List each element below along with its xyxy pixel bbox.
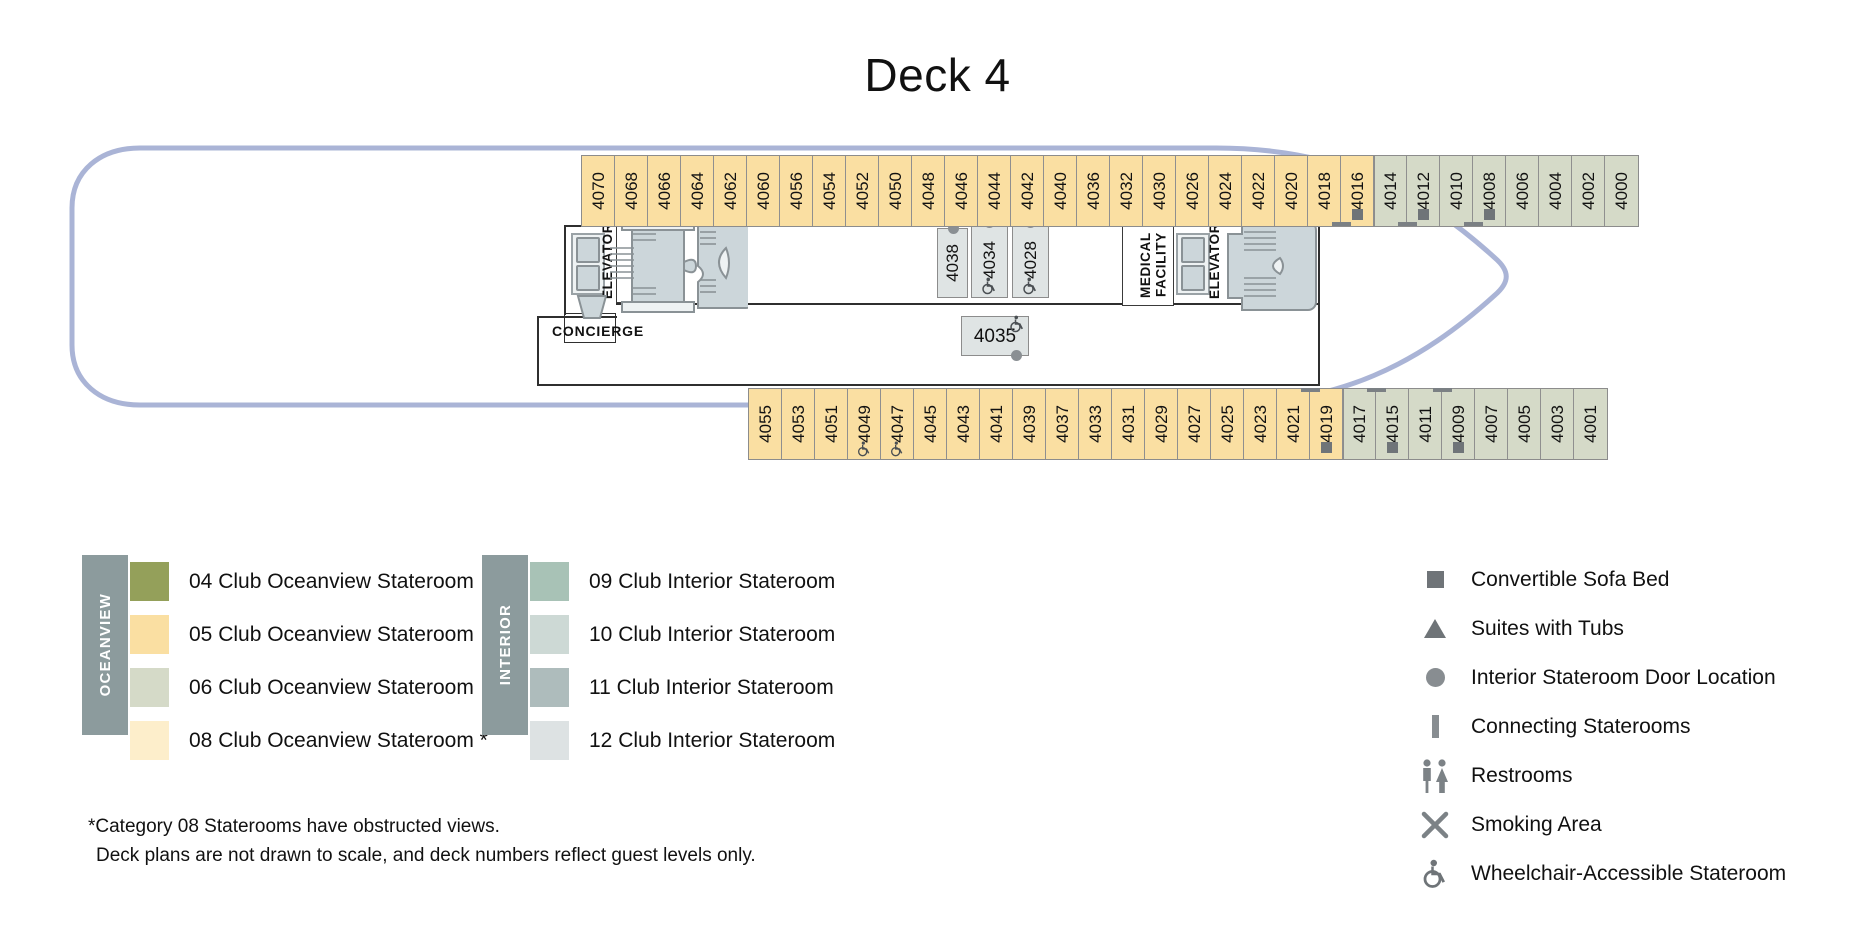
symbol-legend: Convertible Sofa BedSuites with TubsInte… (1415, 555, 1786, 898)
wall-line-concierge-left (537, 318, 539, 386)
legend-item-wheelchair-accessible-stateroom-icon: Wheelchair-Accessible Stateroom (1415, 849, 1786, 898)
cabin-4053[interactable]: 4053 (782, 389, 815, 459)
cabin-4029[interactable]: 4029 (1145, 389, 1178, 459)
cabin-4066[interactable]: 4066 (648, 156, 681, 226)
interior-stateroom-4028-number: 4028 (1022, 241, 1039, 279)
cabin-4042[interactable]: 4042 (1011, 156, 1044, 226)
cabin-4060-number: 4060 (755, 172, 772, 210)
cabin-4021-number: 4021 (1285, 405, 1302, 443)
cabin-4049-number: 4049 (856, 405, 873, 443)
cabin-4019-number: 4019 (1318, 405, 1335, 443)
interior-stateroom-4034[interactable]: 4034 (971, 222, 1008, 298)
legend-item-convertible-sofa-bed-icon: Convertible Sofa Bed (1415, 555, 1786, 604)
cabin-4007-number: 4007 (1483, 405, 1500, 443)
cabin-4000[interactable]: 4000 (1605, 156, 1638, 226)
suites-with-tubs-icon (1415, 609, 1455, 649)
cabin-4047[interactable]: 4047 (881, 389, 914, 459)
cabin-4027-number: 4027 (1186, 405, 1203, 443)
aft-stairwell-graphic (608, 218, 748, 314)
legend-label-09: 09 Club Interior Stateroom (589, 570, 835, 594)
aft-elevator-car-1 (576, 237, 600, 263)
cabin-4049[interactable]: 4049 (848, 389, 881, 459)
connecting-staterooms-icon-4009 (1433, 388, 1452, 392)
interior-category-bar: INTERIOR (482, 555, 528, 735)
legend-label-04: 04 Club Oceanview Stateroom (189, 570, 474, 594)
cabin-4015-number: 4015 (1384, 405, 1401, 443)
cabin-4041[interactable]: 4041 (980, 389, 1013, 459)
legend-item-interior-12: 12 Club Interior Stateroom (530, 714, 835, 767)
wheelchair-accessible-stateroom-icon-4035 (1008, 315, 1026, 333)
interior-stateroom-4038-number: 4038 (944, 244, 961, 282)
cabin-4022[interactable]: 4022 (1242, 156, 1275, 226)
cabin-4068-number: 4068 (623, 172, 640, 210)
cabin-4045[interactable]: 4045 (914, 389, 947, 459)
wall-line-mid-right (1318, 303, 1320, 386)
cabin-4008[interactable]: 4008 (1473, 156, 1506, 226)
cabin-4023[interactable]: 4023 (1244, 389, 1277, 459)
cabin-4039[interactable]: 4039 (1013, 389, 1046, 459)
cabin-4010[interactable]: 4010 (1440, 156, 1473, 226)
cabin-4052-number: 4052 (854, 172, 871, 210)
cabin-4001-number: 4001 (1582, 405, 1599, 443)
cabin-4027[interactable]: 4027 (1178, 389, 1211, 459)
cabin-4031[interactable]: 4031 (1112, 389, 1145, 459)
fwd-stairwell-graphic (1220, 218, 1330, 314)
cabin-4002[interactable]: 4002 (1572, 156, 1605, 226)
cabin-4011[interactable]: 4011 (1409, 389, 1442, 459)
cabin-4056[interactable]: 4056 (780, 156, 813, 226)
cabin-4043[interactable]: 4043 (947, 389, 980, 459)
fwd-elevator-car-1 (1181, 237, 1205, 263)
cabin-4005[interactable]: 4005 (1508, 389, 1541, 459)
cabin-4022-number: 4022 (1250, 172, 1267, 210)
wall-line-concierge-bottom (537, 384, 749, 386)
legend-label-smoking-area-icon: Smoking Area (1471, 813, 1602, 837)
cabin-4042-number: 4042 (1019, 172, 1036, 210)
legend-swatch-05 (130, 615, 169, 654)
page-title: Deck 4 (0, 48, 1875, 102)
restrooms-icon (1415, 756, 1455, 796)
connecting-staterooms-icon-4012 (1398, 222, 1417, 226)
cabin-4037-number: 4037 (1054, 405, 1071, 443)
legend-swatch-12 (530, 721, 569, 760)
cabin-4002-number: 4002 (1580, 172, 1597, 210)
cabin-4044-number: 4044 (986, 172, 1003, 210)
cabin-4070-number: 4070 (590, 172, 607, 210)
cabin-4012-number: 4012 (1415, 172, 1432, 210)
cabin-4017[interactable]: 4017 (1343, 389, 1376, 459)
legend-item-restrooms-icon: Restrooms (1415, 751, 1786, 800)
medical-facility-label: MEDICAL FACILITY (1138, 228, 1169, 302)
wheelchair-accessible-stateroom-icon-4047 (889, 441, 905, 457)
wheelchair-accessible-stateroom-icon-4049 (856, 441, 872, 457)
cabin-4016-number: 4016 (1349, 172, 1366, 210)
cabin-4007[interactable]: 4007 (1475, 389, 1508, 459)
door-location-dot-4035 (1011, 350, 1022, 361)
cabin-4010-number: 4010 (1448, 172, 1465, 210)
interior-stateroom-4038[interactable]: 4038 (937, 228, 968, 298)
cabin-4003[interactable]: 4003 (1541, 389, 1574, 459)
connecting-staterooms-icon-4019 (1301, 388, 1320, 392)
cabin-4008-number: 4008 (1481, 172, 1498, 210)
interior-stateroom-4028[interactable]: 4028 (1012, 222, 1049, 298)
legend-swatch-08 (130, 721, 169, 760)
cabin-4025-number: 4025 (1219, 405, 1236, 443)
cabin-4021[interactable]: 4021 (1277, 389, 1310, 459)
legend-label-convertible-sofa-bed-icon: Convertible Sofa Bed (1471, 568, 1669, 592)
legend-label-wheelchair-accessible-stateroom-icon: Wheelchair-Accessible Stateroom (1471, 862, 1786, 886)
legend-item-oceanview-05: 05 Club Oceanview Stateroom (130, 608, 488, 661)
legend-item-interior-11: 11 Club Interior Stateroom (530, 661, 835, 714)
cabin-4064[interactable]: 4064 (681, 156, 714, 226)
cabin-4023-number: 4023 (1252, 405, 1269, 443)
wheelchair-accessible-stateroom-icon-4028 (1021, 277, 1039, 295)
wall-line-fwd-vert (1318, 226, 1320, 304)
legend-label-connecting-staterooms-icon: Connecting Staterooms (1471, 715, 1690, 739)
legend-label-10: 10 Club Interior Stateroom (589, 623, 835, 647)
cabin-4030[interactable]: 4030 (1143, 156, 1176, 226)
cabin-4015[interactable]: 4015 (1376, 389, 1409, 459)
cabin-4020-number: 4020 (1283, 172, 1300, 210)
cabin-4014-number: 4014 (1382, 172, 1399, 210)
cabin-4003-number: 4003 (1549, 405, 1566, 443)
cabin-4033-number: 4033 (1087, 405, 1104, 443)
legend-item-oceanview-06: 06 Club Oceanview Stateroom (130, 661, 488, 714)
cabin-4030-number: 4030 (1151, 172, 1168, 210)
aft-elevator-car-2 (576, 265, 600, 291)
cabin-4051-number: 4051 (823, 405, 840, 443)
cabin-4039-number: 4039 (1021, 405, 1038, 443)
cabin-4006[interactable]: 4006 (1506, 156, 1539, 226)
wheelchair-accessible-stateroom-icon (1415, 854, 1455, 894)
cabin-4009[interactable]: 4009 (1442, 389, 1475, 459)
convertible-sofa-bed-icon-4008 (1484, 209, 1495, 220)
cabin-4032-number: 4032 (1118, 172, 1135, 210)
legend-label-05: 05 Club Oceanview Stateroom (189, 623, 474, 647)
wall-line-mid-lower (749, 384, 1320, 386)
legend-label-12: 12 Club Interior Stateroom (589, 729, 835, 753)
cabin-4024[interactable]: 4024 (1209, 156, 1242, 226)
cabin-4006-number: 4006 (1514, 172, 1531, 210)
cabin-4017-number: 4017 (1351, 405, 1368, 443)
legend-label-interior-stateroom-door-location-icon: Interior Stateroom Door Location (1471, 666, 1776, 690)
cabin-4043-number: 4043 (955, 405, 972, 443)
interior-legend-items: 09 Club Interior Stateroom10 Club Interi… (530, 555, 835, 767)
port-cabin-row: 4055405340514049404740454043404140394037… (748, 388, 1608, 460)
cabin-4014[interactable]: 4014 (1374, 156, 1407, 226)
convertible-sofa-bed-icon (1415, 560, 1455, 600)
wheelchair-accessible-stateroom-icon-4034 (980, 277, 998, 295)
cabin-4036-number: 4036 (1085, 172, 1102, 210)
cabin-4055-number: 4055 (757, 405, 774, 443)
cabin-4026[interactable]: 4026 (1176, 156, 1209, 226)
legend-swatch-11 (530, 668, 569, 707)
cabin-4019[interactable]: 4019 (1310, 389, 1343, 459)
cabin-4046[interactable]: 4046 (945, 156, 978, 226)
deck-plan-diagram: GUEST RELATIONS CONCIERGE ELEVATORS (0, 130, 1875, 460)
legend-item-interior-10: 10 Club Interior Stateroom (530, 608, 835, 661)
cabin-4026-number: 4026 (1184, 172, 1201, 210)
convertible-sofa-bed-icon-4012 (1418, 209, 1429, 220)
cabin-4050-number: 4050 (887, 172, 904, 210)
cabin-4012[interactable]: 4012 (1407, 156, 1440, 226)
cabin-4064-number: 4064 (689, 172, 706, 210)
cabin-4045-number: 4045 (922, 405, 939, 443)
legend-swatch-04 (130, 562, 169, 601)
convertible-sofa-bed-icon-4009 (1453, 442, 1464, 453)
smoking-area-icon (1415, 805, 1455, 845)
legend-swatch-09 (530, 562, 569, 601)
cabin-4004-number: 4004 (1547, 172, 1564, 210)
oceanview-category-bar: OCEANVIEW (82, 555, 128, 735)
legend-item-smoking-area-icon: Smoking Area (1415, 800, 1786, 849)
legend-item-interior-09: 09 Club Interior Stateroom (530, 555, 835, 608)
cabin-4056-number: 4056 (788, 172, 805, 210)
cabin-4050[interactable]: 4050 (879, 156, 912, 226)
cabin-4068[interactable]: 4068 (615, 156, 648, 226)
legend-label-06: 06 Club Oceanview Stateroom (189, 676, 474, 700)
cabin-4052[interactable]: 4052 (846, 156, 879, 226)
cabin-4011-number: 4011 (1417, 406, 1434, 443)
cabin-4004[interactable]: 4004 (1539, 156, 1572, 226)
convertible-sofa-bed-icon-4015 (1387, 442, 1398, 453)
cabin-4048[interactable]: 4048 (912, 156, 945, 226)
interior-stateroom-4034-number: 4034 (981, 241, 998, 279)
interior-category-bar-label: INTERIOR (497, 604, 514, 685)
wall-line-aft-vert (564, 225, 566, 315)
cabin-4029-number: 4029 (1153, 405, 1170, 443)
fwd-elevator-car-2 (1181, 265, 1205, 291)
legend-label-11: 11 Club Interior Stateroom (589, 676, 834, 700)
legend-item-interior-stateroom-door-location-icon: Interior Stateroom Door Location (1415, 653, 1786, 702)
cabin-4005-number: 4005 (1516, 405, 1533, 443)
cabin-4051[interactable]: 4051 (815, 389, 848, 459)
legend-item-suites-with-tubs-icon: Suites with Tubs (1415, 604, 1786, 653)
cabin-4001[interactable]: 4001 (1574, 389, 1607, 459)
cabin-4016[interactable]: 4016 (1341, 156, 1374, 226)
connecting-staterooms-icon-4015 (1367, 388, 1386, 392)
cabin-4048-number: 4048 (920, 172, 937, 210)
legend-item-connecting-staterooms-icon: Connecting Staterooms (1415, 702, 1786, 751)
convertible-sofa-bed-icon-4016 (1352, 209, 1363, 220)
cabin-4044[interactable]: 4044 (978, 156, 1011, 226)
interior-stateroom-door-location-icon (1415, 658, 1455, 698)
legend-label-suites-with-tubs-icon: Suites with Tubs (1471, 617, 1624, 641)
starboard-cabin-row: 4070406840664064406240604056405440524050… (581, 155, 1639, 227)
cabin-4055[interactable]: 4055 (749, 389, 782, 459)
cabin-4053-number: 4053 (790, 405, 807, 443)
cabin-4066-number: 4066 (656, 172, 673, 210)
cabin-4054-number: 4054 (821, 172, 838, 210)
cabin-4041-number: 4041 (988, 405, 1005, 443)
oceanview-legend-items: 04 Club Oceanview Stateroom05 Club Ocean… (130, 555, 488, 767)
cabin-4032[interactable]: 4032 (1110, 156, 1143, 226)
interior-stateroom-4035[interactable]: 4035 (961, 316, 1029, 356)
legend-item-oceanview-04: 04 Club Oceanview Stateroom (130, 555, 488, 608)
cabin-4062-number: 4062 (722, 172, 739, 210)
cabin-4047-number: 4047 (889, 405, 906, 443)
connecting-staterooms-icon-4008 (1464, 222, 1483, 226)
footnotes: *Category 08 Staterooms have obstructed … (88, 812, 756, 871)
cabin-4025[interactable]: 4025 (1211, 389, 1244, 459)
cabin-4033[interactable]: 4033 (1079, 389, 1112, 459)
cabin-4000-number: 4000 (1613, 172, 1630, 210)
connecting-staterooms-icon (1415, 707, 1455, 747)
cabin-4062[interactable]: 4062 (714, 156, 747, 226)
cabin-4018[interactable]: 4018 (1308, 156, 1341, 226)
cabin-4036[interactable]: 4036 (1077, 156, 1110, 226)
cabin-4037[interactable]: 4037 (1046, 389, 1079, 459)
cabin-4060[interactable]: 4060 (747, 156, 780, 226)
footnote-obstructed-views: *Category 08 Staterooms have obstructed … (88, 812, 756, 841)
legend-label-restrooms-icon: Restrooms (1471, 764, 1573, 788)
cabin-4018-number: 4018 (1316, 172, 1333, 210)
legend-swatch-10 (530, 615, 569, 654)
legend-swatch-06 (130, 668, 169, 707)
concierge-label: CONCIERGE (552, 323, 644, 339)
cabin-4070[interactable]: 4070 (582, 156, 615, 226)
cabin-4020[interactable]: 4020 (1275, 156, 1308, 226)
oceanview-category-bar-label: OCEANVIEW (97, 593, 114, 696)
cabin-4040-number: 4040 (1052, 172, 1069, 210)
aft-landing-graphic (572, 294, 612, 324)
connecting-staterooms-icon-4016 (1332, 222, 1351, 226)
cabin-4024-number: 4024 (1217, 172, 1234, 210)
cabin-4031-number: 4031 (1120, 405, 1137, 443)
footnote-not-to-scale: Deck plans are not drawn to scale, and d… (88, 841, 756, 870)
legend-label-08: 08 Club Oceanview Stateroom * (189, 729, 488, 753)
cabin-4046-number: 4046 (953, 172, 970, 210)
cabin-4054[interactable]: 4054 (813, 156, 846, 226)
cabin-4009-number: 4009 (1450, 405, 1467, 443)
legend-item-oceanview-08: 08 Club Oceanview Stateroom * (130, 714, 488, 767)
convertible-sofa-bed-icon-4019 (1321, 442, 1332, 453)
cabin-4040[interactable]: 4040 (1044, 156, 1077, 226)
